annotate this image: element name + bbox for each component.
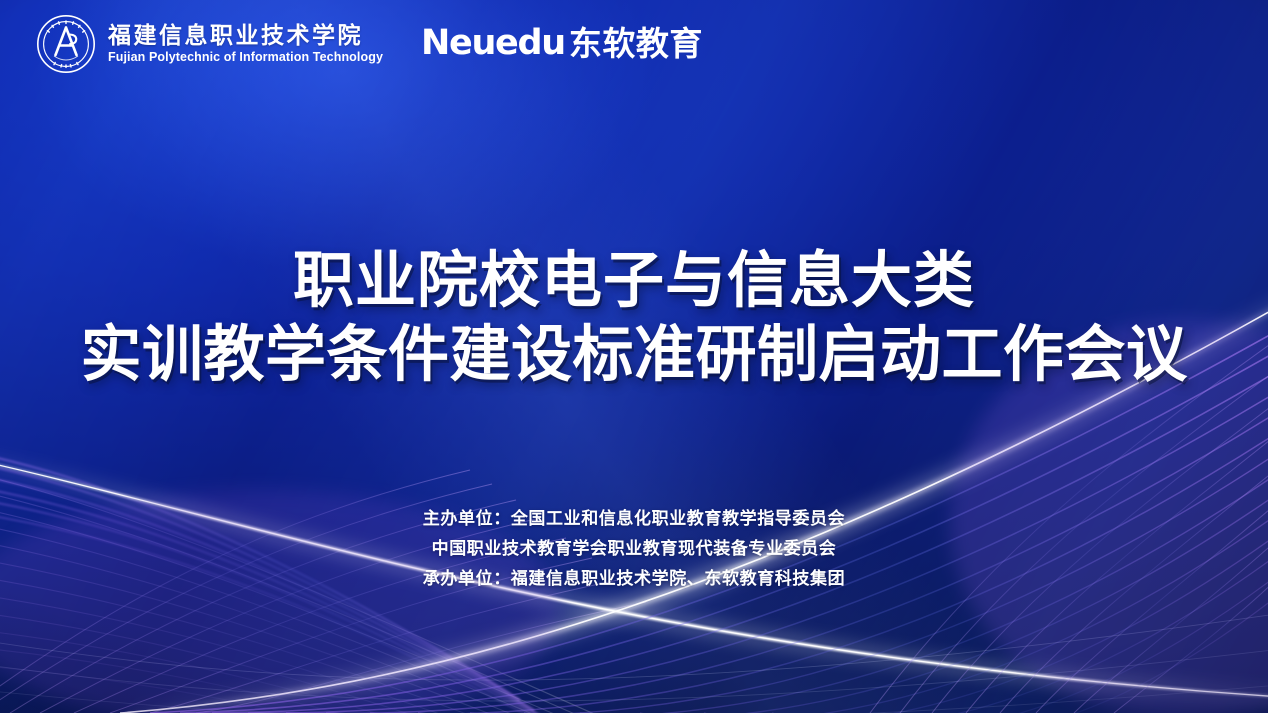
conference-backdrop: 福建信息职业技术学院 Fujian Polytechnic of Informa… (0, 0, 1268, 713)
university-name-block: 福建信息职业技术学院 Fujian Polytechnic of Informa… (108, 22, 383, 66)
title-line-2: 实训教学条件建设标准研制启动工作会议 (0, 320, 1268, 390)
neuedu-wordmark-icon: Neuedu 东软教育 (421, 26, 703, 63)
neuedu-name-cn: 东软教育 (569, 27, 703, 60)
organizers-block: 主办单位：全国工业和信息化职业教育教学指导委员会 中国职业技术教育学会职业教育现… (0, 510, 1268, 587)
page-title: 职业院校电子与信息大类 实训教学条件建设标准研制启动工作会议 (0, 246, 1268, 389)
neuedu-name-en: Neuedu (421, 26, 565, 61)
header-logos: 福建信息职业技术学院 Fujian Polytechnic of Informa… (36, 14, 703, 74)
fujian-polytechnic-seal-icon (36, 14, 96, 74)
title-line-1: 职业院校电子与信息大类 (0, 246, 1268, 316)
organizer-line-host-2: 中国职业技术教育学会职业教育现代装备专业委员会 (0, 540, 1268, 557)
university-name-en: Fujian Polytechnic of Information Techno… (108, 50, 383, 66)
organizer-line-undertaker: 承办单位：福建信息职业技术学院、东软教育科技集团 (0, 570, 1268, 587)
university-name-cn: 福建信息职业技术学院 (108, 24, 383, 48)
organizer-line-host: 主办单位：全国工业和信息化职业教育教学指导委员会 (0, 510, 1268, 527)
